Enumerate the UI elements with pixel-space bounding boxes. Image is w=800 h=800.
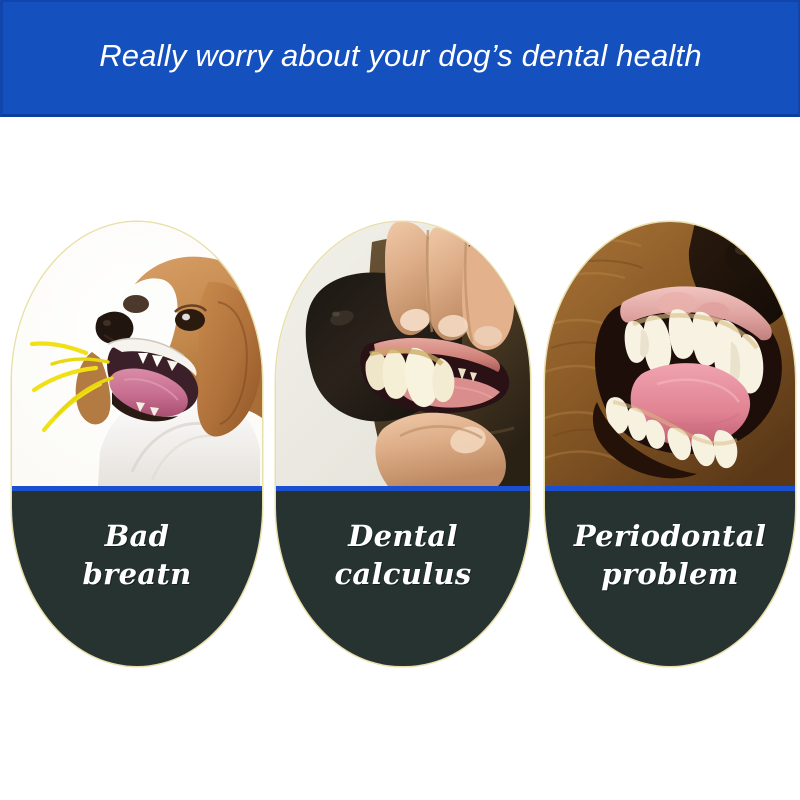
header-banner: Really worry about your dog’s dental hea… [0, 0, 800, 117]
card-label-periodontal-problem: Periodontal problem [574, 517, 766, 593]
page-title: Really worry about your dog’s dental hea… [99, 38, 702, 74]
card-body: Dental calculus [276, 491, 530, 666]
card-bad-breath[interactable]: Bad breatn [12, 222, 262, 666]
dental-calculus-photo [276, 222, 530, 486]
card-dental-calculus[interactable]: Dental calculus [276, 222, 530, 666]
beagle-bad-breath-photo [12, 222, 262, 486]
card-label-dental-calculus: Dental calculus [334, 517, 471, 593]
periodontal-problem-photo [545, 222, 795, 486]
card-label-bad-breath: Bad breatn [82, 517, 191, 593]
benefit-cards-row: Bad breatn [0, 222, 800, 668]
card-body: Bad breatn [12, 491, 262, 666]
card-body: Periodontal problem [545, 491, 795, 666]
card-periodontal-problem[interactable]: Periodontal problem [545, 222, 795, 666]
